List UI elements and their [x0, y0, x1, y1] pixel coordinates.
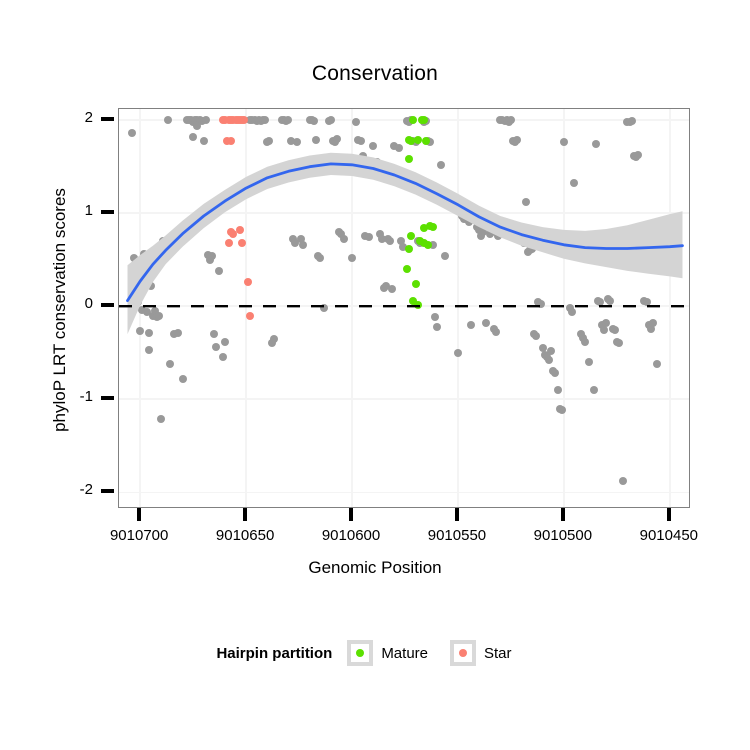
x-axis-tick-label: 9010650	[185, 527, 305, 544]
y-axis-tick-label: -1	[5, 388, 93, 405]
x-axis-tick	[349, 508, 353, 521]
chart-title: Conservation	[0, 62, 750, 86]
plot-panel	[118, 108, 690, 508]
x-axis-label: Genomic Position	[0, 558, 750, 578]
x-axis-tick	[137, 508, 141, 521]
x-axis-tick	[667, 508, 671, 521]
x-axis-tick-label: 9010600	[291, 527, 411, 544]
y-axis-tick-label: -2	[5, 481, 93, 498]
x-axis-tick	[561, 508, 565, 521]
legend-label-star: Star	[484, 645, 512, 662]
x-axis-tick-label: 9010500	[503, 527, 623, 544]
plot-area	[119, 109, 689, 507]
y-axis-tick-label: 0	[5, 295, 93, 312]
legend: Hairpin partition Mature Star	[0, 640, 750, 666]
x-axis-tick-label: 9010450	[609, 527, 729, 544]
legend-dot-mature	[356, 649, 364, 657]
x-axis-tick	[455, 508, 459, 521]
x-axis-tick	[243, 508, 247, 521]
y-axis-tick	[101, 303, 114, 307]
legend-dot-star	[459, 649, 467, 657]
legend-label-mature: Mature	[381, 645, 428, 662]
y-axis-tick-label: 1	[5, 202, 93, 219]
trend-overlay	[119, 109, 689, 507]
x-axis-tick-label: 9010550	[397, 527, 517, 544]
y-axis-tick	[101, 396, 114, 400]
y-axis-tick	[101, 117, 114, 121]
x-axis-tick-label: 9010700	[79, 527, 199, 544]
legend-key-star[interactable]	[450, 640, 476, 666]
legend-title: Hairpin partition	[216, 645, 332, 662]
y-axis-tick	[101, 489, 114, 493]
legend-key-mature[interactable]	[347, 640, 373, 666]
y-axis-tick-label: 2	[5, 109, 93, 126]
y-axis-tick	[101, 210, 114, 214]
chart-root: Conservation phyloP LRT conservation sco…	[0, 0, 750, 750]
